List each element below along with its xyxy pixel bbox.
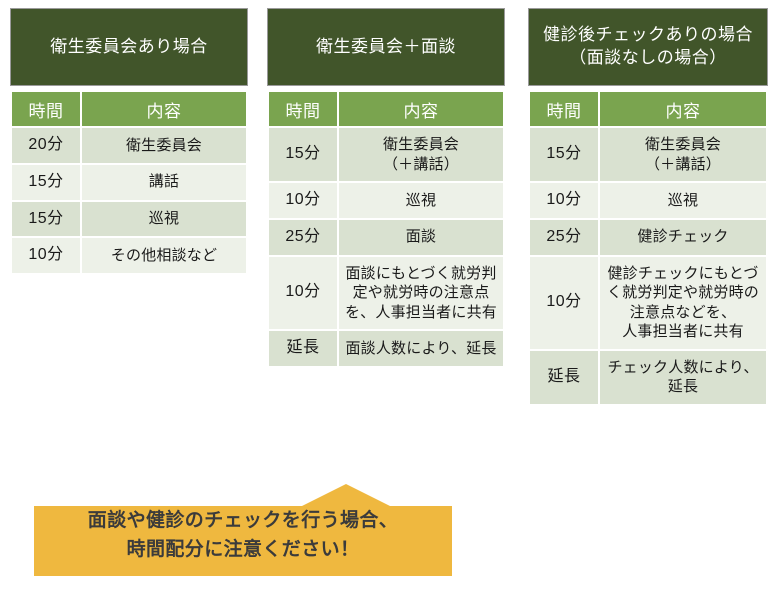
table-3: 時間 内容 15分衛生委員会（＋講話）10分巡視25分健診チェック10分健診チェ… bbox=[528, 90, 768, 406]
table-row: 10分巡視 bbox=[530, 183, 766, 218]
table-row: 20分衛生委員会 bbox=[12, 128, 246, 163]
table-3-col-content: 内容 bbox=[600, 92, 766, 126]
row-time-cell: 15分 bbox=[12, 202, 80, 237]
table-2-col-content: 内容 bbox=[339, 92, 503, 126]
row-content-cell: 衛生委員会（＋講話） bbox=[339, 128, 503, 181]
table-row: 15分巡視 bbox=[12, 202, 246, 237]
table-2: 時間 内容 15分衛生委員会（＋講話）10分巡視25分面談10分面談にもとづく就… bbox=[267, 90, 505, 368]
row-time-cell: 15分 bbox=[269, 128, 337, 181]
callout-line-1: 面談や健診のチェックを行う場合、 bbox=[34, 506, 452, 535]
callout-line-2: 時間配分に注意ください！ bbox=[34, 535, 452, 564]
table-1-body: 20分衛生委員会15分講話15分巡視10分その他相談など bbox=[12, 128, 246, 273]
row-time-cell: 10分 bbox=[269, 183, 337, 218]
table-2-col-time: 時間 bbox=[269, 92, 337, 126]
table-row: 10分巡視 bbox=[269, 183, 503, 218]
row-content-cell: 健診チェック bbox=[600, 220, 766, 255]
table-1-title: 衛生委員会あり場合 bbox=[10, 8, 248, 86]
table-3-header-row: 時間 内容 bbox=[530, 92, 766, 126]
table-1: 時間 内容 20分衛生委員会15分講話15分巡視10分その他相談など bbox=[10, 90, 248, 275]
row-content-cell: 巡視 bbox=[339, 183, 503, 218]
table-row: 10分その他相談など bbox=[12, 238, 246, 273]
row-content-cell: 健診チェックにもとづく就労判定や就労時の注意点などを、人事担当者に共有 bbox=[600, 257, 766, 349]
table-row: 延長面談人数により、延長 bbox=[269, 331, 503, 366]
table-3-body: 15分衛生委員会（＋講話）10分巡視25分健診チェック10分健診チェックにもとづ… bbox=[530, 128, 766, 404]
row-time-cell: 延長 bbox=[530, 351, 598, 404]
table-row: 15分衛生委員会（＋講話） bbox=[530, 128, 766, 181]
row-time-cell: 延長 bbox=[269, 331, 337, 366]
table-row: 25分面談 bbox=[269, 220, 503, 255]
table-block-2: 衛生委員会＋面談 時間 内容 15分衛生委員会（＋講話）10分巡視25分面談10… bbox=[267, 8, 505, 368]
table-2-body: 15分衛生委員会（＋講話）10分巡視25分面談10分面談にもとづく就労判定や就労… bbox=[269, 128, 503, 366]
table-row: 15分衛生委員会（＋講話） bbox=[269, 128, 503, 181]
row-content-cell: チェック人数により、延長 bbox=[600, 351, 766, 404]
row-content-cell: 講話 bbox=[82, 165, 246, 200]
row-time-cell: 15分 bbox=[12, 165, 80, 200]
table-row: 10分健診チェックにもとづく就労判定や就労時の注意点などを、人事担当者に共有 bbox=[530, 257, 766, 349]
table-1-header-row: 時間 内容 bbox=[12, 92, 246, 126]
row-content-cell: 巡視 bbox=[600, 183, 766, 218]
row-time-cell: 25分 bbox=[269, 220, 337, 255]
table-row: 延長チェック人数により、延長 bbox=[530, 351, 766, 404]
row-content-cell: 面談人数により、延長 bbox=[339, 331, 503, 366]
row-time-cell: 10分 bbox=[269, 257, 337, 330]
row-time-cell: 10分 bbox=[530, 183, 598, 218]
table-2-header-row: 時間 内容 bbox=[269, 92, 503, 126]
table-1-col-time: 時間 bbox=[12, 92, 80, 126]
slide-canvas: 衛生委員会あり場合 時間 内容 20分衛生委員会15分講話15分巡視10分その他… bbox=[0, 0, 778, 606]
row-content-cell: 面談にもとづく就労判定や就労時の注意点を、人事担当者に共有 bbox=[339, 257, 503, 330]
table-block-1: 衛生委員会あり場合 時間 内容 20分衛生委員会15分講話15分巡視10分その他… bbox=[10, 8, 248, 275]
table-2-title: 衛生委員会＋面談 bbox=[267, 8, 505, 86]
table-block-3: 健診後チェックありの場合（面談なしの場合） 時間 内容 15分衛生委員会（＋講話… bbox=[528, 8, 768, 406]
row-content-cell: その他相談など bbox=[82, 238, 246, 273]
row-time-cell: 20分 bbox=[12, 128, 80, 163]
row-content-cell: 面談 bbox=[339, 220, 503, 255]
table-row: 10分面談にもとづく就労判定や就労時の注意点を、人事担当者に共有 bbox=[269, 257, 503, 330]
row-content-cell: 衛生委員会（＋講話） bbox=[600, 128, 766, 181]
row-content-cell: 衛生委員会 bbox=[82, 128, 246, 163]
table-row: 25分健診チェック bbox=[530, 220, 766, 255]
callout-banner: 面談や健診のチェックを行う場合、 時間配分に注意ください！ bbox=[34, 484, 452, 576]
row-time-cell: 10分 bbox=[530, 257, 598, 349]
table-3-title: 健診後チェックありの場合（面談なしの場合） bbox=[528, 8, 768, 86]
row-time-cell: 25分 bbox=[530, 220, 598, 255]
row-content-cell: 巡視 bbox=[82, 202, 246, 237]
callout-text: 面談や健診のチェックを行う場合、 時間配分に注意ください！ bbox=[34, 506, 452, 565]
table-1-col-content: 内容 bbox=[82, 92, 246, 126]
table-row: 15分講話 bbox=[12, 165, 246, 200]
row-time-cell: 15分 bbox=[530, 128, 598, 181]
table-3-col-time: 時間 bbox=[530, 92, 598, 126]
row-time-cell: 10分 bbox=[12, 238, 80, 273]
